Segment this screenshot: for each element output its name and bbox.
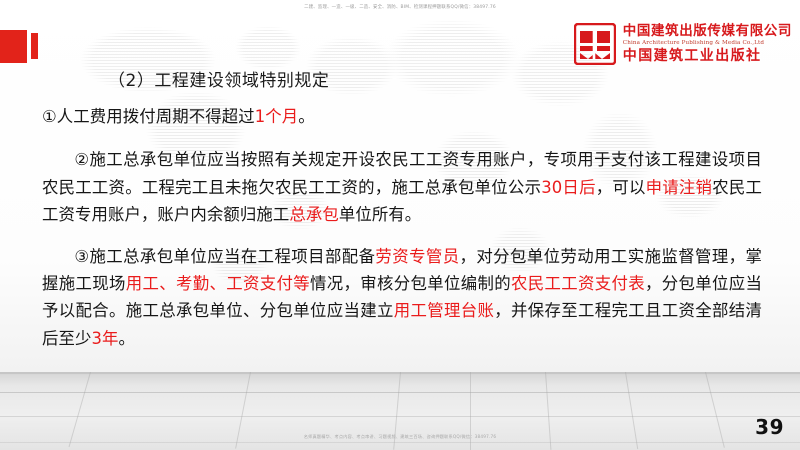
paragraph-3-highlight-3: 农民工工资支付表 <box>511 274 645 293</box>
paragraph-3-seg-6: 。 <box>119 329 136 348</box>
top-watermark-text: 二建、监理、一造、一级、二造、安全、消防、BIM、检测课程押题联系QQ/微信：3… <box>0 4 800 12</box>
presentation-slide: 二建、监理、一造、一级、二造、安全、消防、BIM、检测课程押题联系QQ/微信：3… <box>0 0 800 450</box>
paragraph-2: ②施工总承包单位应当按照有关规定开设农民工工资专用账户，专项用于支付该工程建设项… <box>42 146 762 228</box>
paragraph-1-tail: 。 <box>298 107 315 126</box>
paragraph-3-highlight-1: 劳资专管员 <box>375 247 459 266</box>
paragraph-2-seg-4: 单位所有。 <box>339 205 421 224</box>
paragraph-3-highlight-5: 3年 <box>91 329 118 348</box>
paragraph-2-highlight-1: 30日后 <box>541 178 596 197</box>
floor-hline <box>0 442 800 443</box>
publisher-name-block: 中国建筑出版传媒有限公司 China Architecture Publishi… <box>623 25 792 64</box>
paragraph-3: ③施工总承包单位应当在工程项目部配备劳资专管员，对分包单位劳动用工实施监督管理，… <box>42 243 762 353</box>
slide-content: （2）工程建设领域特别规定 ①人工费用拨付周期不得超过1个月。 ②施工总承包单位… <box>0 66 800 352</box>
paragraph-2-highlight-2: 申请注销 <box>646 178 713 197</box>
paragraph-3-highlight-4: 用工管理台账 <box>394 301 495 320</box>
paragraph-1-lead: ①人工费用拨付周期不得超过 <box>42 107 255 126</box>
publisher-name-en: China Architecture Publishing & Media Co… <box>623 41 792 47</box>
paragraph-3-seg-3: 情况，审核分包单位编制的 <box>310 274 511 293</box>
red-accent-bar <box>31 33 38 59</box>
floor-hline <box>0 392 800 393</box>
paragraph-1: ①人工费用拨付周期不得超过1个月。 <box>42 103 762 130</box>
section-heading: （2）工程建设领域特别规定 <box>108 66 800 91</box>
paragraph-2-highlight-3: 总承包 <box>289 205 338 224</box>
bottom-watermark-text: 名师真题精华、考点内容、考点串讲、习题视频、建筑三百场、咨询押题联系QQ/微信：… <box>0 433 800 441</box>
paragraph-1-highlight: 1个月 <box>255 107 299 126</box>
publisher-name-cn-bottom: 中国建筑工业出版社 <box>623 49 792 63</box>
publisher-name-cn-top: 中国建筑出版传媒有限公司 <box>623 25 792 39</box>
floor-hline <box>0 416 800 417</box>
red-accent-block <box>0 30 27 63</box>
page-number: 39 <box>755 415 784 439</box>
paragraph-3-seg-1: ③施工总承包单位应当在工程项目部配备 <box>74 247 375 266</box>
publisher-logo: 中国建筑出版传媒有限公司 China Architecture Publishi… <box>574 23 792 65</box>
paragraph-2-seg-2: ，可以 <box>596 178 646 197</box>
publisher-emblem-icon <box>574 23 616 65</box>
paragraph-3-highlight-2: 用工、考勤、工资支付等 <box>126 274 310 293</box>
